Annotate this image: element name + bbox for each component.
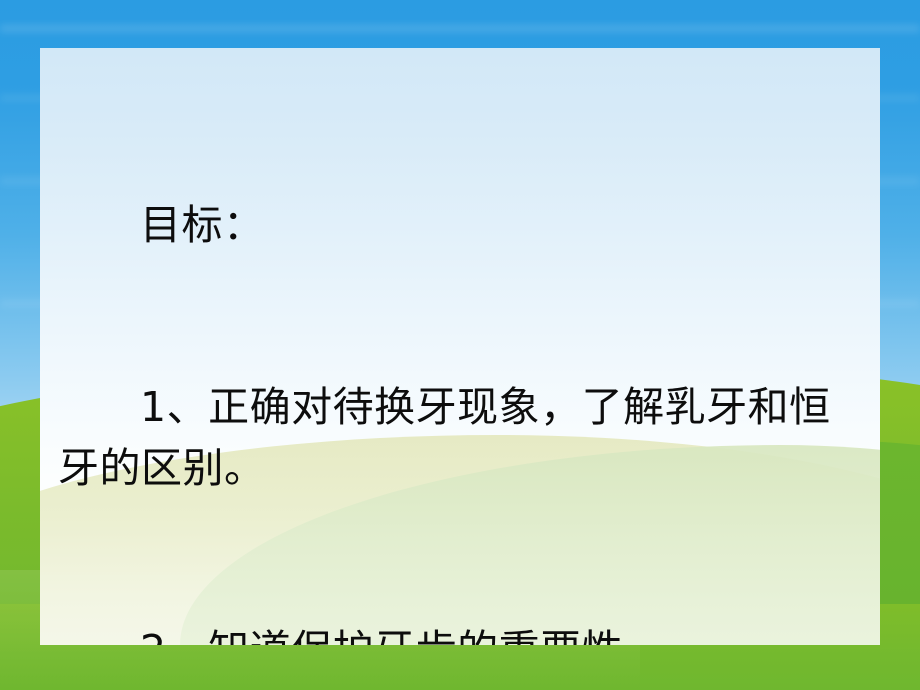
content-panel: 目标： 1、正确对待换牙现象，了解乳牙和恒牙的区别。 2、知道保护牙齿的重要性。: [40, 48, 880, 645]
slide-canvas: 目标： 1、正确对待换牙现象，了解乳牙和恒牙的区别。 2、知道保护牙齿的重要性。: [0, 0, 920, 690]
slide-text-block: 目标： 1、正确对待换牙现象，了解乳牙和恒牙的区别。 2、知道保护牙齿的重要性。: [40, 48, 880, 645]
objective-item-2: 2、知道保护牙齿的重要性。: [58, 620, 862, 645]
cloud-streak-1: [0, 26, 920, 31]
objective-item-1: 1、正确对待换牙现象，了解乳牙和恒牙的区别。: [58, 377, 862, 498]
slide-title: 目标：: [58, 195, 862, 256]
